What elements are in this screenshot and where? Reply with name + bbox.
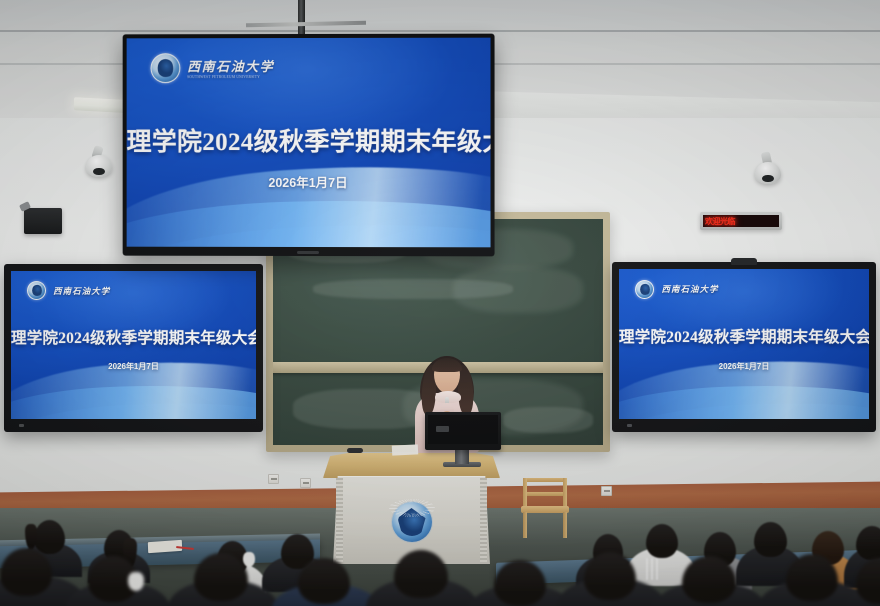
audience-member-head bbox=[646, 524, 678, 558]
university-emblem-icon bbox=[635, 280, 654, 299]
lecture-hall-photo: 西南石油大学 理学院2024级秋季学期期末年级大会 2026年1月7日 西南石油… bbox=[0, 0, 880, 606]
lectern bbox=[323, 452, 500, 564]
slide-date: 2026年1月7日 bbox=[619, 361, 869, 372]
university-logo: 西南石油大学 bbox=[27, 281, 110, 300]
audience-member-head bbox=[394, 550, 448, 598]
led-marquee-sign: 欢迎光临 bbox=[700, 212, 782, 230]
led-marquee-text: 欢迎光临 bbox=[705, 216, 735, 227]
led-marquee-screen: 欢迎光临 bbox=[703, 215, 779, 227]
slide-date: 2026年1月7日 bbox=[11, 361, 256, 372]
left-display-panel[interactable]: 西南石油大学 理学院2024级秋季学期期末年级大会 2026年1月7日 bbox=[4, 264, 263, 432]
security-camera-right-icon bbox=[755, 162, 781, 184]
slide-date: 2026年1月7日 bbox=[127, 172, 491, 191]
university-name-cn: 西南石油大学 bbox=[53, 285, 110, 297]
main-display-panel[interactable]: 西南石油大学SOUTHWEST PETROLEUM UNIVERSITY 理学院… bbox=[123, 34, 495, 257]
audience-member-head bbox=[34, 520, 65, 554]
slide-title: 理学院2024级秋季学期期末年级大会 bbox=[619, 325, 869, 347]
audience-member-head bbox=[584, 552, 636, 600]
audience-member-head bbox=[786, 554, 838, 601]
paper-sheet bbox=[392, 444, 418, 455]
university-logo: 西南石油大学 bbox=[635, 280, 718, 299]
face-mask bbox=[243, 552, 255, 567]
power-led-icon bbox=[627, 424, 632, 427]
university-emblem-icon bbox=[150, 53, 180, 83]
audience-member-head bbox=[494, 560, 546, 606]
audience-member-head bbox=[298, 558, 350, 604]
face-mask bbox=[128, 572, 144, 591]
slide-left: 西南石油大学 理学院2024级秋季学期期末年级大会 2026年1月7日 bbox=[11, 271, 256, 419]
audience-member-head bbox=[754, 522, 787, 557]
audience-member-head bbox=[682, 556, 736, 603]
wall-outlet[interactable] bbox=[268, 474, 279, 484]
wooden-chair[interactable] bbox=[519, 478, 571, 538]
audience-member-head bbox=[194, 553, 248, 601]
security-camera-left-icon bbox=[86, 155, 112, 177]
wall-outlet[interactable] bbox=[601, 486, 612, 496]
university-emblem-icon bbox=[27, 281, 46, 300]
wall-speaker bbox=[24, 208, 62, 234]
monitor-stand bbox=[455, 448, 469, 464]
slide-title: 理学院2024级秋季学期期末年级大会 bbox=[11, 326, 256, 348]
university-name-en: SOUTHWEST PETROLEUM UNIVERSITY bbox=[187, 75, 274, 79]
display-bottom-bezel bbox=[11, 421, 256, 430]
main-display-screen: 西南石油大学SOUTHWEST PETROLEUM UNIVERSITY 理学院… bbox=[127, 38, 491, 248]
left-display-screen: 西南石油大学 理学院2024级秋季学期期末年级大会 2026年1月7日 bbox=[11, 271, 256, 419]
university-name-cn: 西南石油大学SOUTHWEST PETROLEUM UNIVERSITY bbox=[187, 56, 274, 79]
audience-member-head bbox=[856, 526, 880, 560]
lectern-rib bbox=[336, 478, 343, 562]
right-display-screen: 西南石油大学 理学院2024级秋季学期期末年级大会 2026年1月7日 bbox=[619, 269, 869, 419]
university-name-cn: 西南石油大学 bbox=[661, 283, 718, 295]
slide-main: 西南石油大学SOUTHWEST PETROLEUM UNIVERSITY 理学院… bbox=[127, 38, 491, 248]
lectern-monitor bbox=[425, 412, 501, 450]
slide-right: 西南石油大学 理学院2024级秋季学期期末年级大会 2026年1月7日 bbox=[619, 269, 869, 419]
slide-title: 理学院2024级秋季学期期末年级大会 bbox=[127, 122, 491, 158]
display-bottom-bezel bbox=[619, 421, 869, 430]
lectern-university-emblem-icon bbox=[392, 502, 432, 542]
display-camera-icon bbox=[731, 258, 757, 265]
power-led-icon bbox=[19, 424, 24, 427]
microphone-base bbox=[347, 448, 363, 453]
right-display-panel[interactable]: 西南石油大学 理学院2024级秋季学期期末年级大会 2026年1月7日 bbox=[612, 262, 876, 432]
lectern-rib bbox=[480, 478, 487, 562]
ceiling-seam bbox=[0, 30, 880, 32]
wall-outlet[interactable] bbox=[300, 478, 311, 488]
audience-member-head bbox=[0, 548, 52, 596]
university-logo: 西南石油大学SOUTHWEST PETROLEUM UNIVERSITY bbox=[150, 53, 274, 83]
ceiling-mount-pole bbox=[298, 0, 305, 36]
